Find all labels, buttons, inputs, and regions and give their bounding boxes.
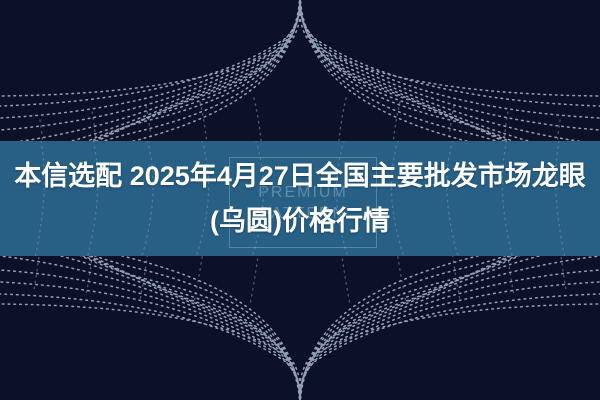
page-title-line-1: 本信选配 2025年4月27日全国主要批发市场龙眼	[14, 154, 586, 199]
page-title: 本信选配 2025年4月27日全国主要批发市场龙眼 (乌圆)价格行情	[0, 141, 600, 256]
poster-canvas: PREMIUM PATTERN 本信选配 2025年4月27日全国主要批发市场龙…	[0, 0, 600, 400]
page-title-line-2: (乌圆)价格行情	[210, 199, 390, 244]
